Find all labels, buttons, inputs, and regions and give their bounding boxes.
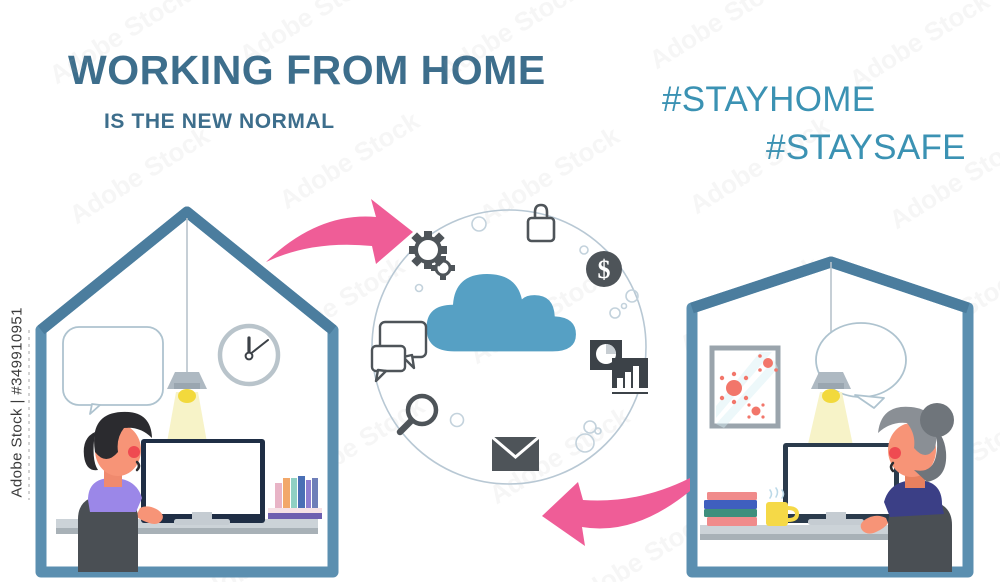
arrows-layer bbox=[0, 0, 1000, 582]
arrow-bottom-left bbox=[542, 478, 690, 546]
poster-canvas: $ bbox=[0, 0, 1000, 582]
arrow-top-right bbox=[266, 199, 413, 264]
